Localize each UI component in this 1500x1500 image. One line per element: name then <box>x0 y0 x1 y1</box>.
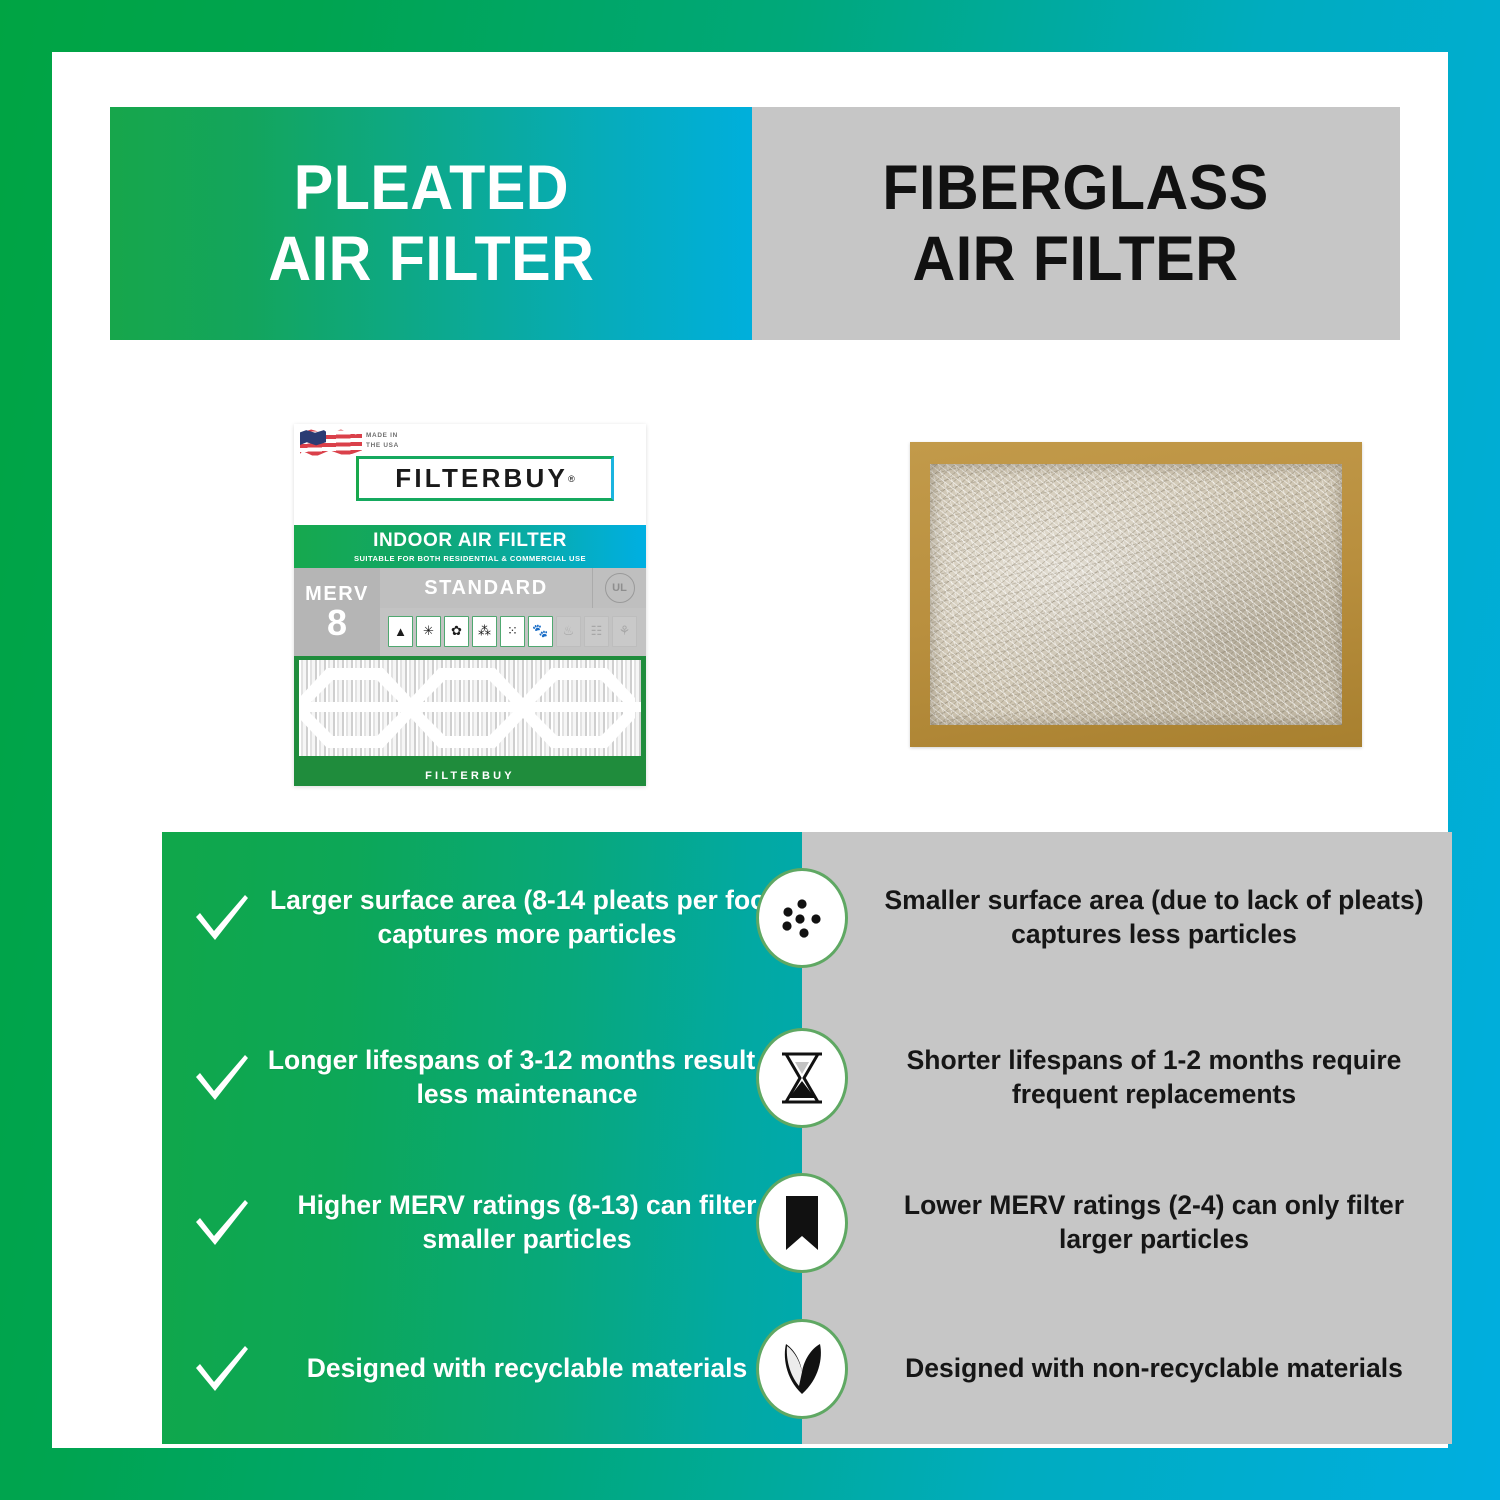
header-pleated-title: PLEATED AIR FILTER <box>268 153 594 294</box>
comparison-row: Higher MERV ratings (8-13) can filter sm… <box>162 1152 1452 1294</box>
row-pleated-side: Longer lifespans of 3-12 months result i… <box>162 1004 802 1152</box>
bookmark-icon <box>756 1173 848 1273</box>
header-fiberglass: FIBERGLASS AIR FILTER <box>752 107 1400 340</box>
checkmark-icon <box>190 1338 252 1400</box>
header-row: PLEATED AIR FILTER FIBERGLASS AIR FILTER <box>110 107 1400 340</box>
row-fiberglass-text: Smaller surface area (due to lack of ple… <box>880 884 1428 952</box>
dust-icon: ⁙ <box>500 616 525 647</box>
row-pleated-text: Larger surface area (8-14 pleats per foo… <box>266 884 788 952</box>
checkmark-icon <box>190 1192 252 1254</box>
dust-mites-icon: ✳ <box>416 616 441 647</box>
made-in-line1: MADE IN <box>366 431 399 441</box>
filterbuy-logo-box: FILTERBUY® <box>356 456 614 501</box>
package-footer-brand: FILTERBUY <box>294 770 646 782</box>
filterbuy-logo-text: FILTERBUY <box>395 463 568 494</box>
leaf-icon <box>756 1319 848 1419</box>
virus-icon: ⚘ <box>612 616 637 647</box>
comparison-rows: Larger surface area (8-14 pleats per foo… <box>162 832 1452 1444</box>
band-title: INDOOR AIR FILTER <box>373 530 567 552</box>
registered-mark: ® <box>568 474 575 484</box>
fiberglass-media-texture <box>930 464 1342 725</box>
row-fiberglass-side: Designed with non-recyclable materials <box>802 1294 1452 1444</box>
package-spec-row: MERV 8 STANDARD UL ▲ ✳ ✿ ⁂ <box>294 568 646 656</box>
pleated-filter-package-image: MADE IN THE USA FILTERBUY® INDOOR AIR FI… <box>294 424 646 786</box>
comparison-row: Larger surface area (8-14 pleats per foo… <box>162 832 1452 1004</box>
band-subtitle: SUITABLE FOR BOTH RESIDENTIAL & COMMERCI… <box>354 554 586 563</box>
row-fiberglass-text: Designed with non-recyclable materials <box>905 1352 1403 1386</box>
pollen-icon: ✿ <box>444 616 469 647</box>
capability-icon-strip: ▲ ✳ ✿ ⁂ ⁙ 🐾 ♨ ☷ ⚘ <box>380 608 646 656</box>
comparison-row: Designed with recyclable materials Desig… <box>162 1294 1452 1444</box>
comparison-row: Longer lifespans of 3-12 months result i… <box>162 1004 1452 1152</box>
bacteria-icon: ☷ <box>584 616 609 647</box>
row-fiberglass-side: Lower MERV ratings (2-4) can only filter… <box>802 1152 1452 1294</box>
row-fiberglass-text: Lower MERV ratings (2-4) can only filter… <box>880 1189 1428 1257</box>
package-pleated-media: FILTERBUY <box>294 656 646 786</box>
package-header: MADE IN THE USA FILTERBUY® <box>294 424 646 525</box>
row-fiberglass-side: Shorter lifespans of 1-2 months require … <box>802 1004 1452 1152</box>
pet-dander-icon: 🐾 <box>528 616 553 647</box>
made-in-usa-label: MADE IN THE USA <box>366 431 399 450</box>
fiberglass-filter-image <box>910 442 1362 747</box>
made-in-line2: THE USA <box>366 441 399 451</box>
household-dust-lint-icon: ▲ <box>388 616 413 647</box>
header-fiberglass-line2: AIR FILTER <box>913 224 1239 294</box>
grade-row: STANDARD UL <box>380 568 646 608</box>
pleat-texture <box>299 660 641 756</box>
checkmark-icon <box>190 887 252 949</box>
product-images-row: MADE IN THE USA FILTERBUY® INDOOR AIR FI… <box>110 340 1400 777</box>
mold-icon: ⁂ <box>472 616 497 647</box>
header-fiberglass-line1: FIBERGLASS <box>883 153 1269 223</box>
infographic-frame: PLEATED AIR FILTER FIBERGLASS AIR FILTER… <box>52 52 1448 1448</box>
checkmark-icon <box>190 1047 252 1109</box>
spec-right-column: STANDARD UL ▲ ✳ ✿ ⁂ ⁙ 🐾 ♨ ☷ ⚘ <box>380 568 646 656</box>
row-pleated-text: Designed with recyclable materials <box>266 1352 788 1386</box>
row-pleated-text: Higher MERV ratings (8-13) can filter sm… <box>266 1189 788 1257</box>
header-pleated-line1: PLEATED <box>293 153 568 223</box>
particles-icon <box>756 868 848 968</box>
ul-certification-cell: UL <box>592 568 646 608</box>
smoke-icon: ♨ <box>556 616 581 647</box>
row-pleated-side: Larger surface area (8-14 pleats per foo… <box>162 832 802 1004</box>
ul-mark-icon: UL <box>605 573 635 603</box>
row-fiberglass-side: Smaller surface area (due to lack of ple… <box>802 832 1452 1004</box>
row-pleated-side: Higher MERV ratings (8-13) can filter sm… <box>162 1152 802 1294</box>
row-pleated-side: Designed with recyclable materials <box>162 1294 802 1444</box>
row-pleated-text: Longer lifespans of 3-12 months result i… <box>266 1044 788 1112</box>
hourglass-icon <box>756 1028 848 1128</box>
header-pleated-line2: AIR FILTER <box>268 224 594 294</box>
package-indoor-air-filter-band: INDOOR AIR FILTER SUITABLE FOR BOTH RESI… <box>294 525 646 568</box>
header-fiberglass-title: FIBERGLASS AIR FILTER <box>883 153 1269 294</box>
header-pleated: PLEATED AIR FILTER <box>110 107 752 340</box>
merv-rating-cell: MERV 8 <box>294 568 380 656</box>
comparison-section: Larger surface area (8-14 pleats per foo… <box>162 832 1452 1444</box>
pleat-support-braces <box>299 660 641 756</box>
merv-value: 8 <box>327 605 347 641</box>
row-fiberglass-text: Shorter lifespans of 1-2 months require … <box>880 1044 1428 1112</box>
grade-label: STANDARD <box>380 568 592 608</box>
